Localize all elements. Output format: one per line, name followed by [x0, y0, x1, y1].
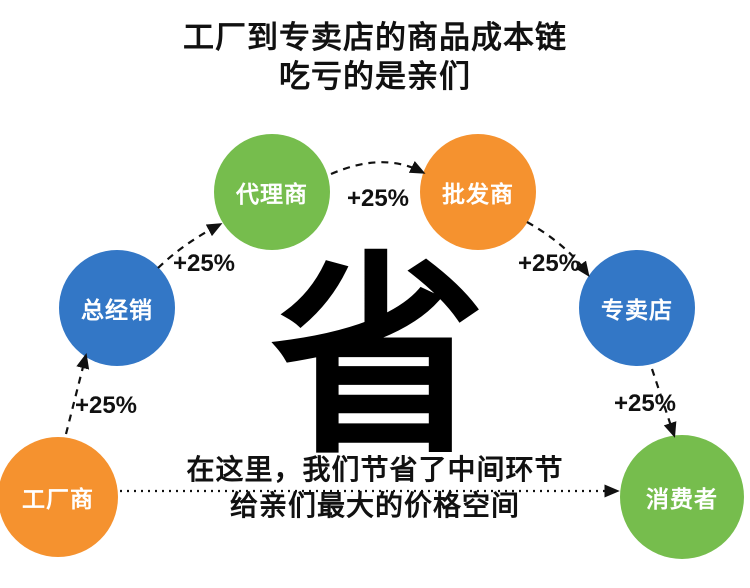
edge-label-factory-to-distributor: +25%: [75, 392, 137, 420]
edge-agent-to-wholesaler: [331, 162, 420, 174]
diagram-canvas: 工厂到专卖店的商品成本链 吃亏的是亲们 工厂商 总经销 代理商 批发商 专卖店 …: [0, 0, 750, 588]
center-save-glyph: 省: [271, 251, 486, 466]
edge-label-store-to-consumer: +25%: [614, 390, 676, 418]
edge-label-distributor-to-agent: +25%: [173, 250, 235, 278]
node-label-distributor: 总经销: [81, 291, 153, 325]
node-label-consumer: 消费者: [646, 480, 718, 514]
edge-label-agent-to-wholesaler: +25%: [347, 185, 409, 213]
edge-label-wholesaler-to-store: +25%: [518, 250, 580, 278]
node-label-wholesaler: 批发商: [442, 175, 514, 209]
node-label-store: 专卖店: [601, 291, 673, 325]
node-label-agent: 代理商: [236, 175, 308, 209]
node-label-factory: 工厂商: [22, 480, 94, 514]
